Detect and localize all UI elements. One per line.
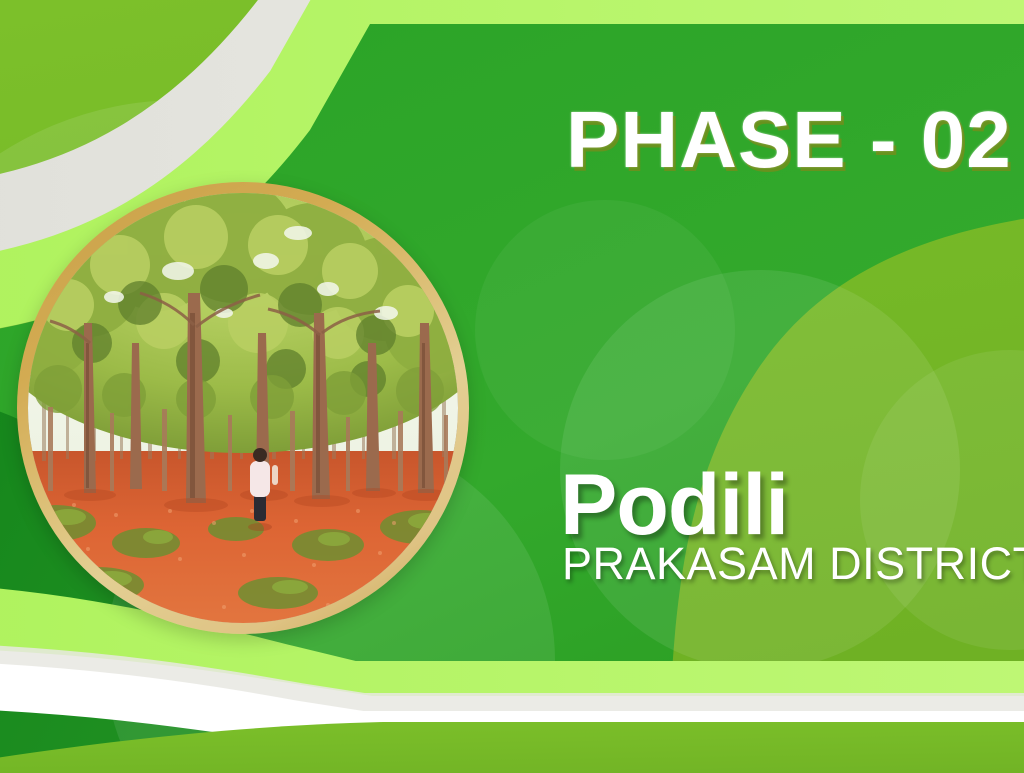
phase-title: PHASE - 02 (566, 100, 1012, 180)
circular-photo (28, 193, 458, 623)
circular-photo-frame (17, 182, 469, 634)
place-name-heading: Podili (560, 462, 788, 548)
poster-slide: PHASE - 02 Podili PRAKASAM DISTRICT (0, 0, 1024, 773)
forest-plantation-illustration (28, 193, 458, 623)
district-subtitle: PRAKASAM DISTRICT (562, 541, 1024, 586)
